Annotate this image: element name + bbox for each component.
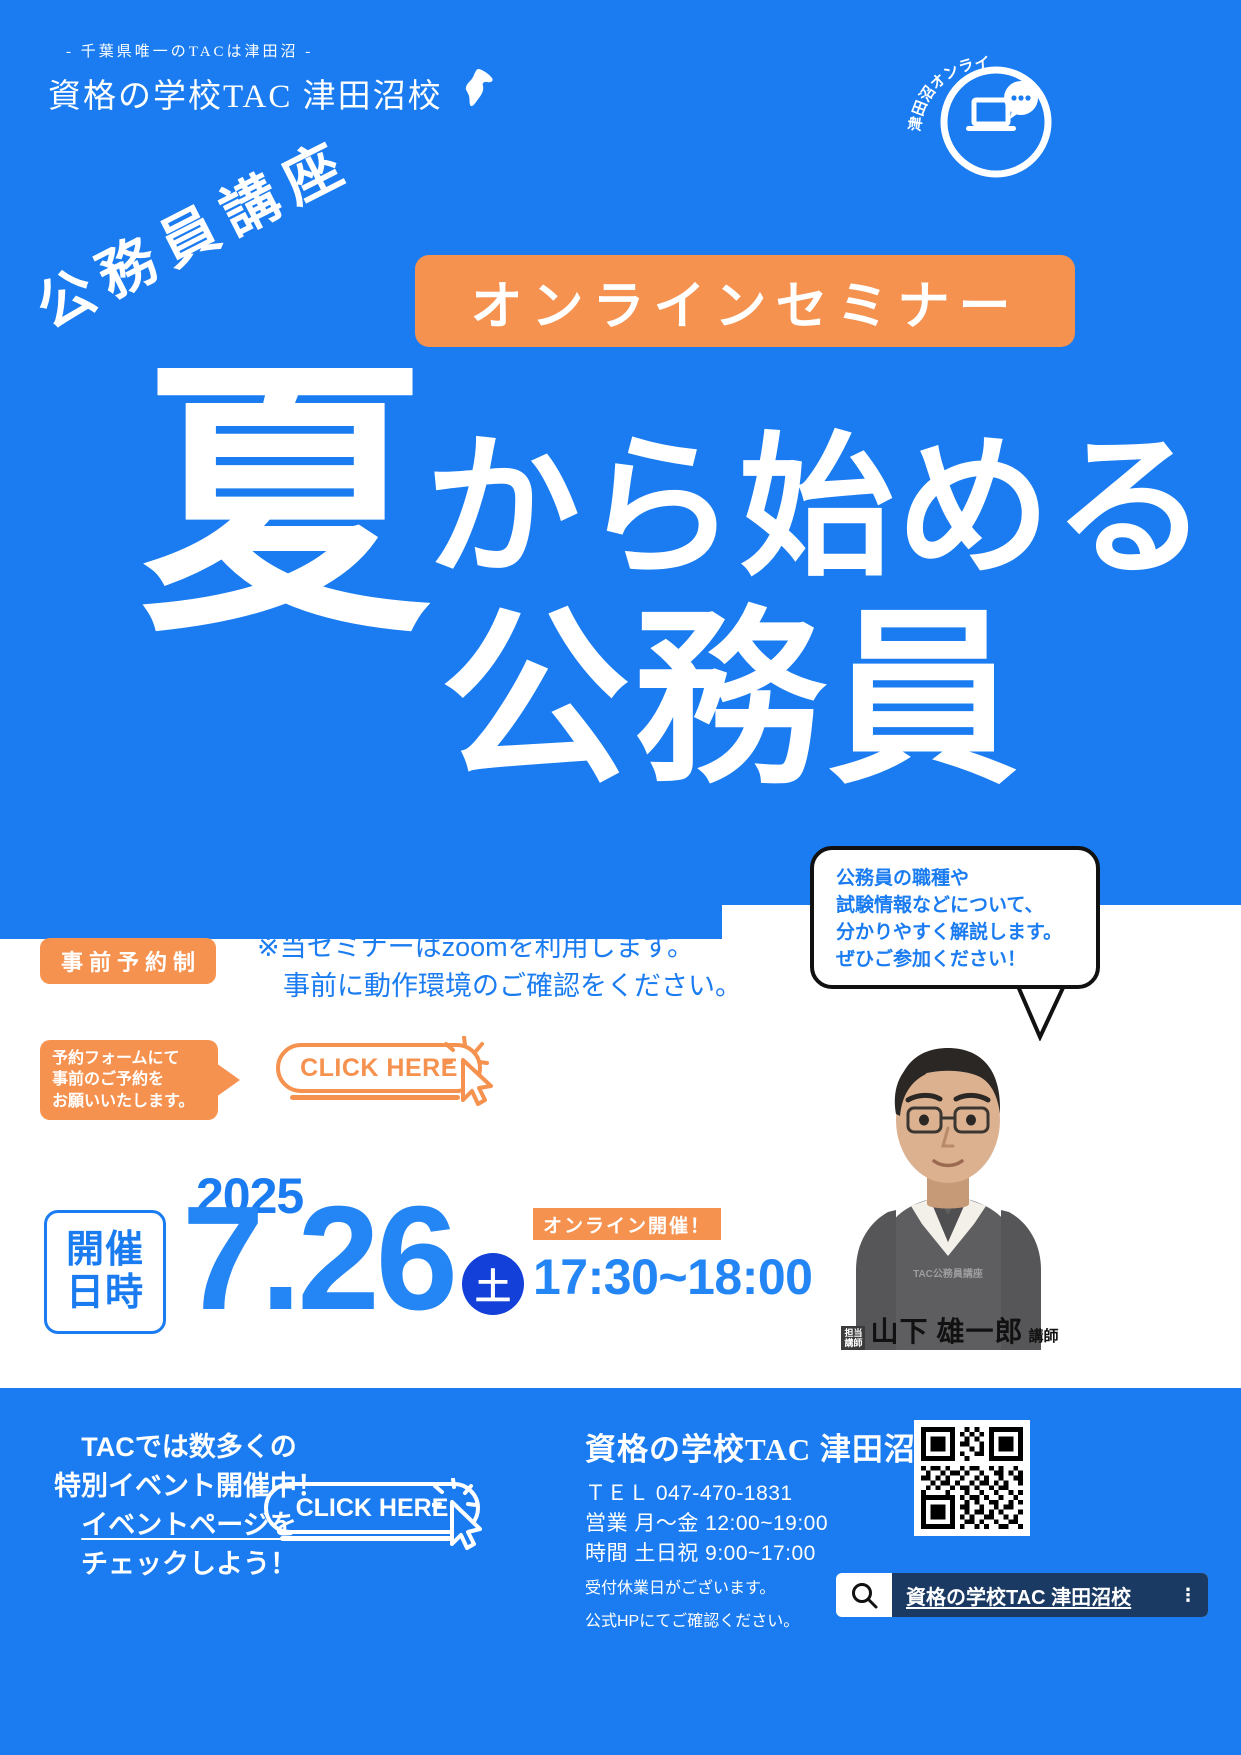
- bubble-line-4: ぜひご参加ください！: [836, 947, 1096, 974]
- datetime-label-line1: 開催: [66, 1229, 144, 1272]
- sweater-course-text: TAC公務員講座: [913, 1267, 983, 1280]
- instructor-suffix: 講師: [1029, 1325, 1059, 1350]
- datetime-label-line2: 日時: [66, 1272, 144, 1315]
- reservation-click-underline: [290, 1095, 460, 1100]
- instructor-role-line1: 担当: [844, 1328, 862, 1338]
- footer-hours-weekday: 営業 月〜金 12:00~19:00: [585, 1509, 948, 1539]
- event-datetime-label: 開催 日時: [44, 1210, 166, 1334]
- logo-tagline: - 千葉県唯一のTACは津田沼 -: [66, 40, 497, 61]
- logo-school-name: 資格の学校TAC 津田沼校: [48, 65, 497, 120]
- advance-reservation-badge: 事前予約制: [40, 938, 216, 984]
- click-cursor-icon: [432, 1478, 490, 1557]
- search-query-text: 資格の学校TAC 津田沼校: [906, 1581, 1131, 1610]
- name-plate-row: 担当 講師 山下 雄一郎 講師: [834, 1310, 1066, 1350]
- headline-koumuin: 公務員: [440, 605, 1022, 795]
- reservation-callout: 予約フォームにて 事前のご予約を お願いいたします。: [40, 1040, 218, 1120]
- events-click-underline: [280, 1536, 452, 1541]
- footer-school-name: 資格の学校TAC 津田沼校: [585, 1424, 948, 1469]
- event-time: 17:30~18:00: [533, 1248, 812, 1306]
- callout-line-1: 予約フォームにて: [52, 1048, 218, 1069]
- promo-line-1: TACでは数多くの: [34, 1428, 344, 1467]
- footer-tel: ＴＥＬ 047-470-1831: [585, 1479, 948, 1509]
- seminar-type-banner: オンラインセミナー: [415, 255, 1075, 347]
- instructor-name: 山下 雄一郎: [870, 1310, 1023, 1350]
- search-menu-icon[interactable]: ⋮: [1179, 1585, 1198, 1606]
- callout-arrow: [216, 1063, 240, 1097]
- promo-line-4: チェックしよう！: [34, 1545, 344, 1584]
- online-seminar-badge: 津田沼オンラインセミナー: [900, 38, 1070, 208]
- search-field[interactable]: 資格の学校TAC 津田沼校 ⋮: [892, 1573, 1208, 1617]
- headline-kara-hajimeru: から始める: [425, 430, 1210, 585]
- poster-root: - 千葉県唯一のTACは津田沼 - 資格の学校TAC 津田沼校: [0, 0, 1241, 1755]
- zoom-notice-line1: ※当セミナーはzoomを利用します。: [257, 932, 694, 962]
- headline-natsu: 夏: [140, 370, 430, 637]
- qr-code[interactable]: [914, 1420, 1030, 1536]
- school-logo: - 千葉県唯一のTACは津田沼 - 資格の学校TAC 津田沼校: [48, 40, 497, 120]
- event-date: 7.26: [182, 1185, 454, 1333]
- magnifier-icon: [836, 1580, 892, 1610]
- zoom-notice: ※当セミナーはzoomを利用します。 事前に動作環境のご確認をください。: [257, 928, 742, 1006]
- bubble-line-1: 公務員の職種や: [836, 866, 1096, 893]
- event-weekday-badge: 土: [462, 1253, 524, 1315]
- callout-line-2: 事前のご予約を: [52, 1069, 218, 1090]
- chiba-prefecture-icon: [451, 65, 497, 120]
- logo-school-name-text: 資格の学校TAC 津田沼校: [48, 69, 443, 117]
- bubble-line-3: 分かりやすく解説します。: [836, 920, 1096, 947]
- bubble-line-2: 試験情報などについて、: [836, 893, 1096, 920]
- zoom-notice-line2: 事前に動作環境のご確認をください。: [257, 967, 742, 1006]
- instructor-role-line2: 講師: [844, 1338, 862, 1348]
- callout-line-3: お願いいたします。: [52, 1091, 218, 1112]
- search-bar[interactable]: 資格の学校TAC 津田沼校 ⋮: [836, 1573, 1208, 1617]
- click-cursor-icon: [443, 1036, 501, 1113]
- seminar-description-bubble: 公務員の職種や 試験情報などについて、 分かりやすく解説します。 ぜひご参加くだ…: [810, 846, 1100, 989]
- instructor-name-plate: 担当 講師 山下 雄一郎 講師: [834, 1292, 1066, 1348]
- online-event-tag: オンライン開催！: [533, 1208, 721, 1240]
- instructor-role-tag: 担当 講師: [841, 1326, 865, 1350]
- footer-hours-weekend: 時間 土日祝 9:00~17:00: [585, 1539, 948, 1569]
